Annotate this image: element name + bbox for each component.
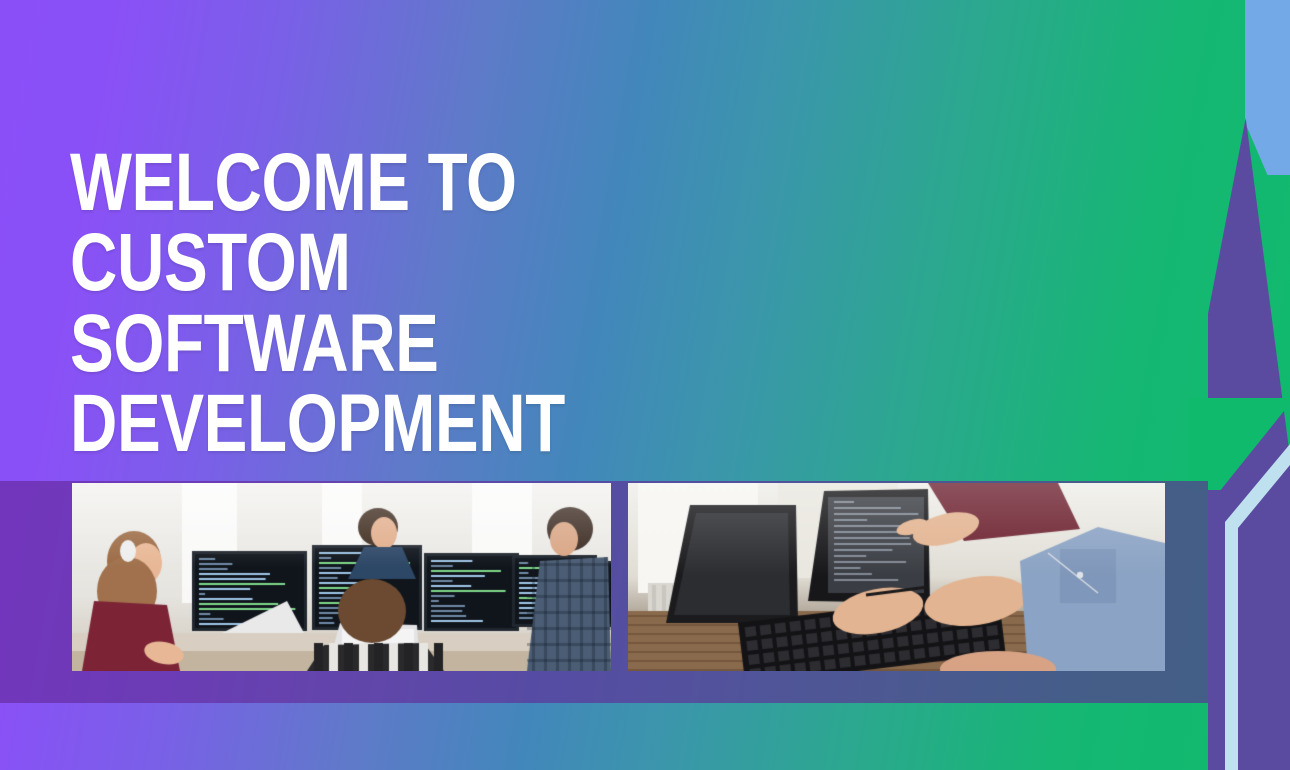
page-title: Welcome to custom software development	[70, 143, 774, 464]
blue-corner-shape	[1245, 0, 1290, 175]
photo-team-of-developers-at-monitors	[72, 483, 611, 671]
photo-hands-on-keyboard-and-laptop	[628, 483, 1165, 671]
presentation-slide: Welcome to custom software development	[0, 0, 1290, 770]
light-blue-bent-stripe-icon	[1205, 440, 1290, 770]
